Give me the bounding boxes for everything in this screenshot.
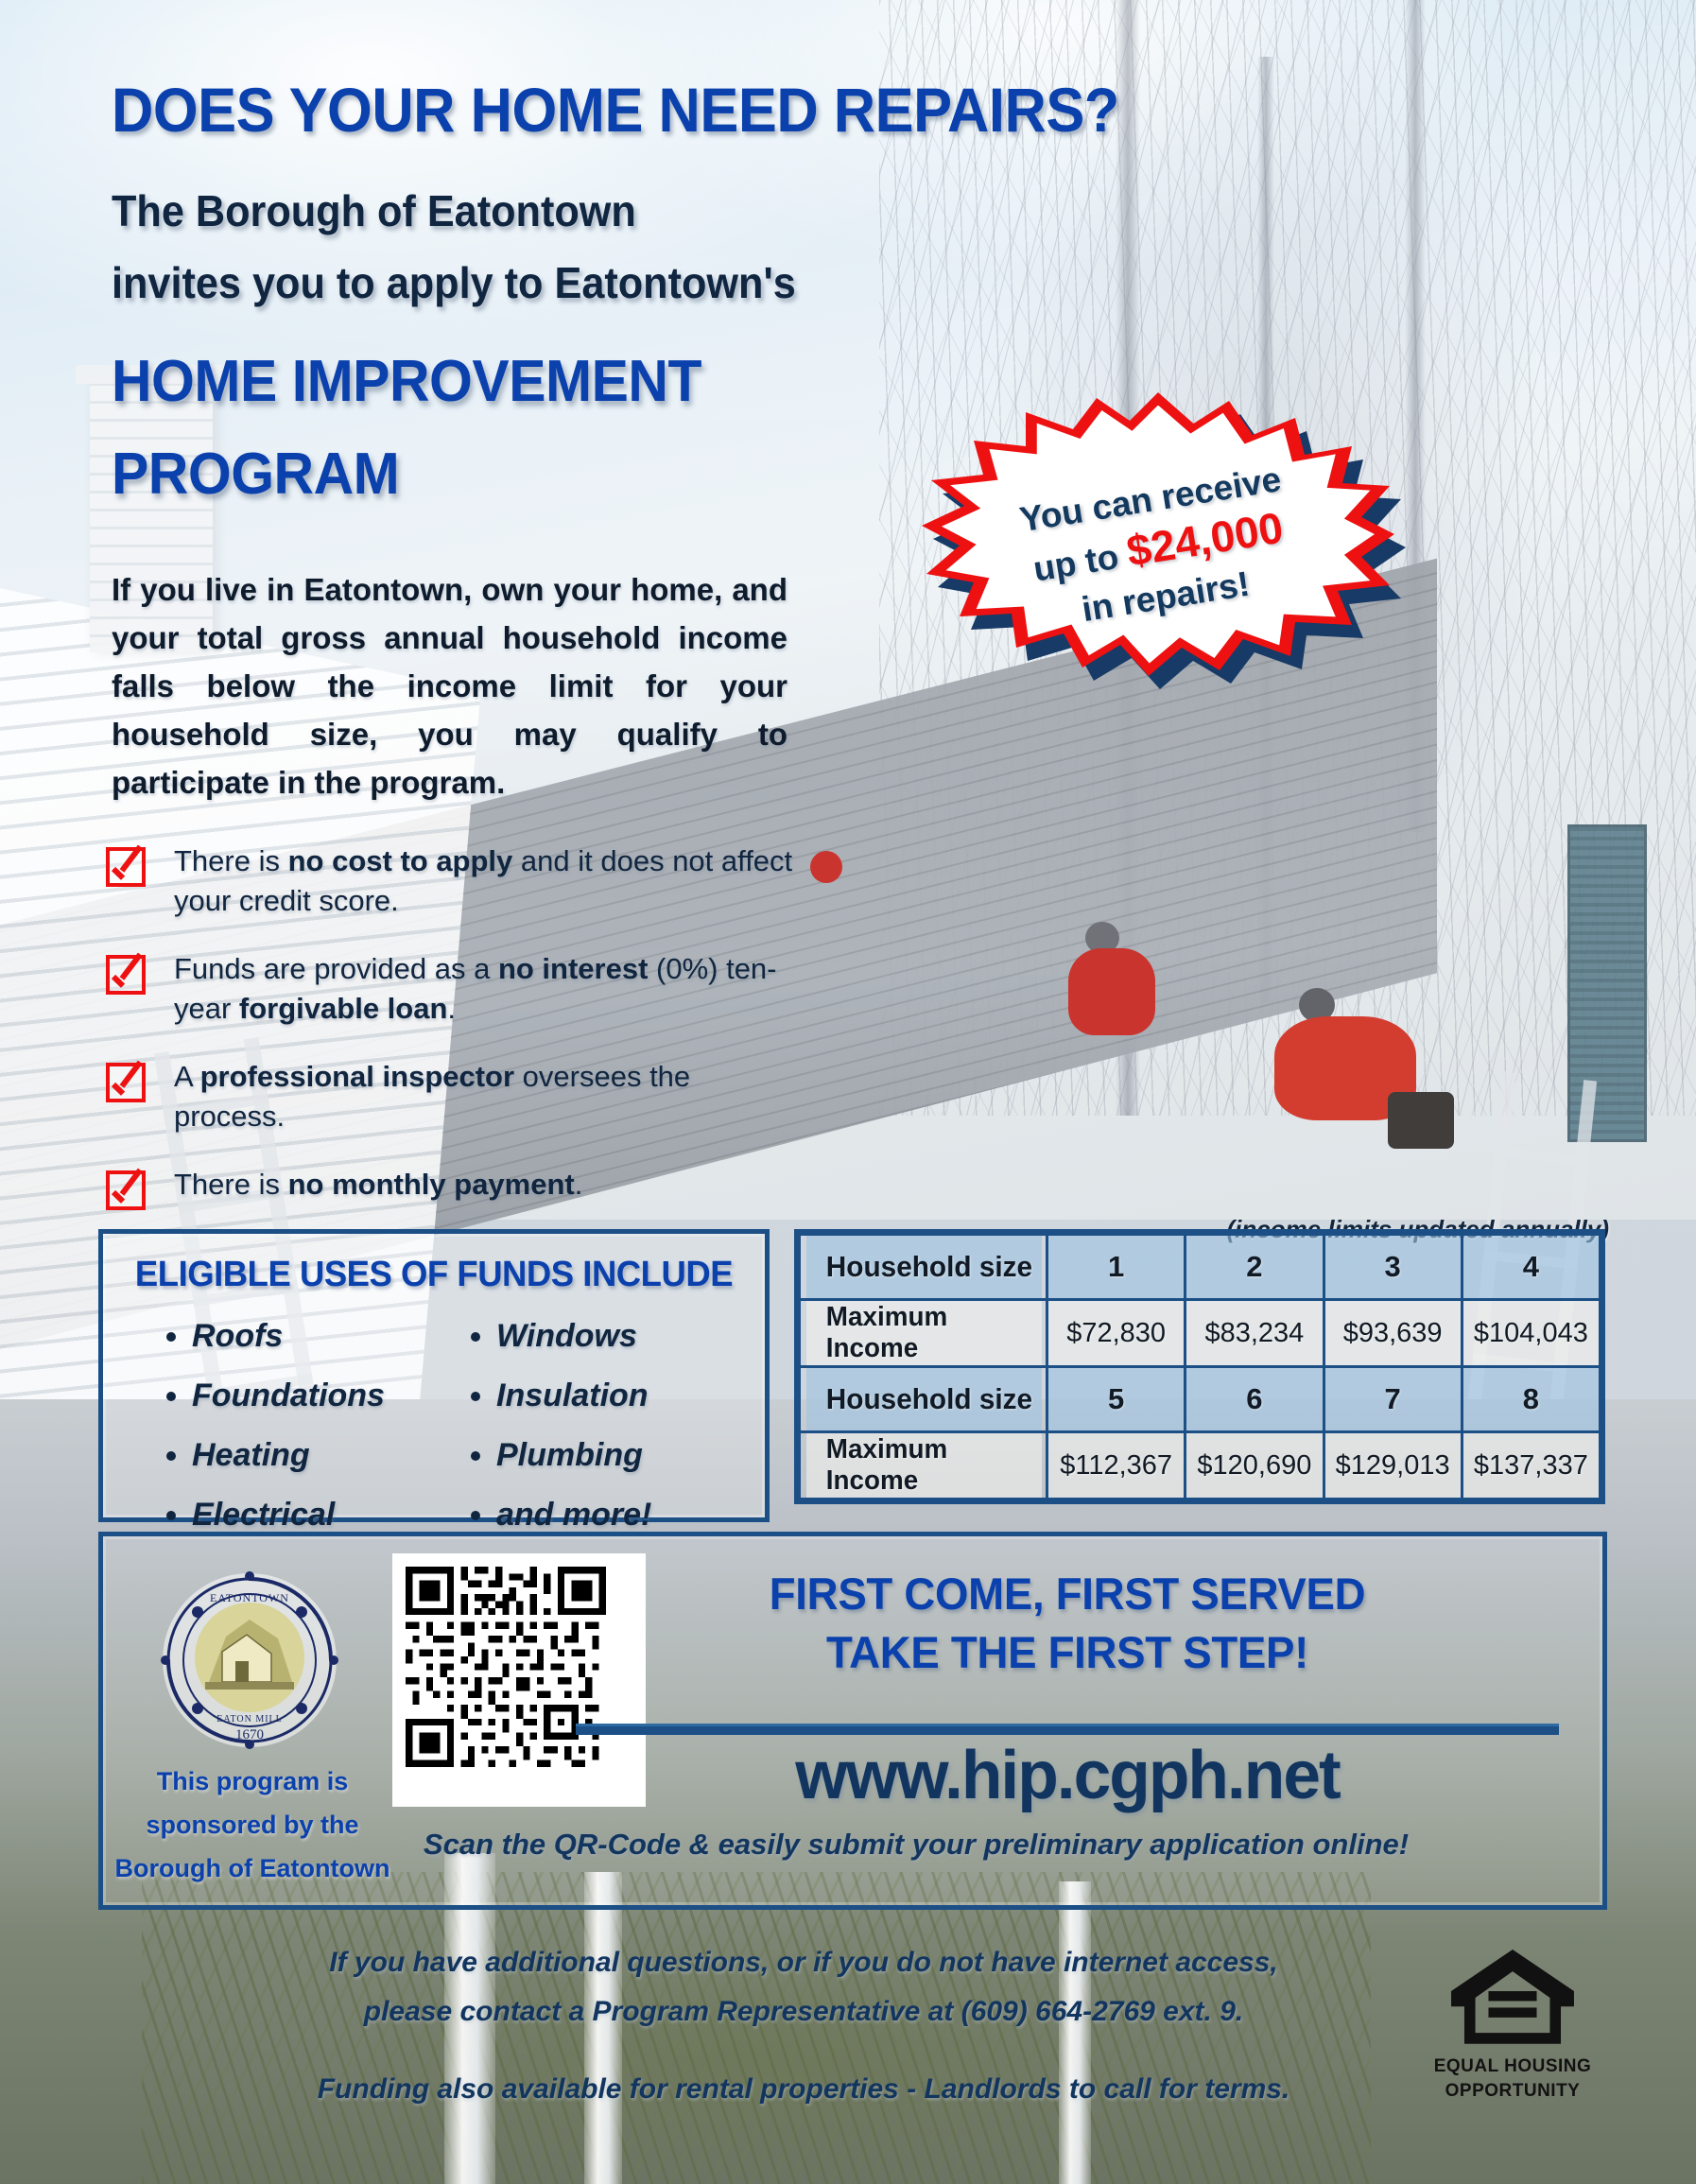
svg-text:EATON MILL: EATON MILL xyxy=(216,1714,283,1725)
checkbox-checked-icon xyxy=(106,847,146,887)
list-item: Plumbing xyxy=(496,1434,765,1477)
table-cell: 4 xyxy=(1462,1235,1600,1300)
cta-line-2: TAKE THE FIRST STEP! xyxy=(563,1623,1572,1682)
table-row-label: Household size xyxy=(805,1367,1043,1432)
eho-line-2: OPPORTUNITY xyxy=(1418,2081,1607,2102)
program-name-line-1: HOME IMPROVEMENT xyxy=(112,348,701,415)
checkbox-checked-icon xyxy=(106,1170,146,1210)
benefits-checklist: There is no cost to apply and it does no… xyxy=(106,841,805,1239)
eligible-uses-left-column: Roofs Foundations Heating Electrical xyxy=(103,1315,434,1553)
subhead-line-1: The Borough of Eatontown xyxy=(112,185,1267,236)
checklist-text-bold: no cost to apply xyxy=(288,844,513,877)
list-item: Insulation xyxy=(496,1375,765,1417)
sponsor-line-1: This program is xyxy=(111,1759,394,1803)
list-item: Roofs xyxy=(192,1315,434,1358)
eligible-uses-right-column: Windows Insulation Plumbing and more! xyxy=(434,1315,765,1553)
footer-line-3: Funding also available for rental proper… xyxy=(208,2065,1399,2114)
table-row: Household size 1 2 3 4 xyxy=(800,1235,1601,1300)
list-item: Heating xyxy=(192,1434,434,1477)
table-cell: 8 xyxy=(1462,1367,1600,1432)
checklist-text-post: . xyxy=(575,1168,583,1201)
table-cell: $120,690 xyxy=(1185,1432,1324,1499)
checklist-text-bold-2: forgivable loan xyxy=(239,992,447,1025)
list-item: Foundations xyxy=(192,1375,434,1417)
table-row-label: Maximum Income xyxy=(805,1300,1043,1367)
table-cell: $72,830 xyxy=(1047,1300,1185,1367)
cta-line-1: FIRST COME, FIRST SERVED xyxy=(563,1565,1572,1623)
footer-line-2: please contact a Program Representative … xyxy=(208,1987,1399,2037)
program-name-line-2: PROGRAM xyxy=(112,441,399,508)
checklist-item: Funds are provided as a no interest (0%)… xyxy=(106,949,805,1029)
footer-contact: If you have additional questions, or if … xyxy=(208,1938,1399,2114)
table-cell: $129,013 xyxy=(1324,1432,1462,1499)
eligible-uses-box: ELIGIBLE USES OF FUNDS INCLUDE Roofs Fou… xyxy=(98,1229,770,1522)
table-cell: $83,234 xyxy=(1185,1300,1324,1367)
intro-paragraph: If you live in Eatontown, own your home,… xyxy=(112,565,787,806)
checkbox-checked-icon xyxy=(106,955,146,995)
svg-text:1670: 1670 xyxy=(235,1727,264,1742)
income-limits-table: Household size 1 2 3 4 Maximum Income $7… xyxy=(794,1229,1605,1504)
divider-rule xyxy=(576,1724,1559,1735)
checkbox-checked-icon xyxy=(106,1063,146,1102)
checklist-item-text: Funds are provided as a no interest (0%)… xyxy=(174,949,805,1029)
flyer-page: DOES YOUR HOME NEED REPAIRS? The Borough… xyxy=(0,0,1696,2184)
table-cell: 7 xyxy=(1324,1367,1462,1432)
table-row-label: Household size xyxy=(805,1235,1043,1300)
svg-text:EATONTOWN: EATONTOWN xyxy=(210,1591,289,1604)
borough-seal-logo: EATONTOWN EATON MILL 1670 xyxy=(160,1570,339,1750)
cta-heading: FIRST COME, FIRST SERVED TAKE THE FIRST … xyxy=(563,1565,1572,1682)
subhead-line-2: invites you to apply to Eatontown's xyxy=(112,257,1267,308)
table-cell: 3 xyxy=(1324,1235,1462,1300)
checklist-item-text: There is no monthly payment. xyxy=(174,1165,582,1210)
list-item: and more! xyxy=(496,1494,765,1536)
checklist-text-pre: Funds are provided as a xyxy=(174,952,498,985)
eho-line-1: EQUAL HOUSING xyxy=(1418,2056,1607,2077)
table-cell: $104,043 xyxy=(1462,1300,1600,1367)
footer-line-1: If you have additional questions, or if … xyxy=(208,1938,1399,1987)
checklist-text-bold: no monthly payment xyxy=(288,1168,575,1201)
table-cell: $137,337 xyxy=(1462,1432,1600,1499)
table-cell: $112,367 xyxy=(1047,1432,1185,1499)
checklist-text-pre: A xyxy=(174,1060,200,1093)
checklist-text-bold: no interest xyxy=(498,952,648,985)
list-item: Electrical xyxy=(192,1494,434,1536)
table-row: Maximum Income $112,367 $120,690 $129,01… xyxy=(800,1432,1601,1499)
sponsor-caption: This program is sponsored by the Borough… xyxy=(111,1759,394,1890)
page-title: DOES YOUR HOME NEED REPAIRS? xyxy=(112,74,1360,146)
scan-instruction: Scan the QR-Code & easily submit your pr… xyxy=(245,1828,1587,1862)
checklist-text-post-2: . xyxy=(447,992,456,1025)
table-row: Household size 5 6 7 8 xyxy=(800,1367,1601,1432)
table-row-label: Maximum Income xyxy=(805,1432,1043,1499)
table-cell: 2 xyxy=(1185,1235,1324,1300)
equal-housing-opportunity-logo: EQUAL HOUSING OPPORTUNITY xyxy=(1418,1943,1607,2102)
checklist-item: There is no monthly payment. xyxy=(106,1165,805,1210)
table-cell: 6 xyxy=(1185,1367,1324,1432)
list-item: Windows xyxy=(496,1315,765,1358)
eligible-uses-columns: Roofs Foundations Heating Electrical Win… xyxy=(103,1315,765,1553)
checklist-item: A professional inspector oversees the pr… xyxy=(106,1057,805,1136)
checklist-text-bold: professional inspector xyxy=(200,1060,514,1093)
checklist-item-text: There is no cost to apply and it does no… xyxy=(174,841,805,921)
amount-badge: You can receive up to $24,000 in repairs… xyxy=(922,392,1394,676)
table-row: Maximum Income $72,830 $83,234 $93,639 $… xyxy=(800,1300,1601,1367)
call-to-action-panel: EATONTOWN EATON MILL 1670 This program i… xyxy=(98,1532,1607,1910)
eligible-uses-title: ELIGIBLE USES OF FUNDS INCLUDE xyxy=(116,1255,752,1295)
website-url[interactable]: www.hip.cgph.net xyxy=(553,1737,1583,1814)
checklist-text-pre: There is xyxy=(174,1168,288,1201)
checklist-item: There is no cost to apply and it does no… xyxy=(106,841,805,921)
table-cell: $93,639 xyxy=(1324,1300,1462,1367)
table-cell: 1 xyxy=(1047,1235,1185,1300)
table-cell: 5 xyxy=(1047,1367,1185,1432)
checklist-text-pre: There is xyxy=(174,844,288,877)
checklist-item-text: A professional inspector oversees the pr… xyxy=(174,1057,805,1136)
